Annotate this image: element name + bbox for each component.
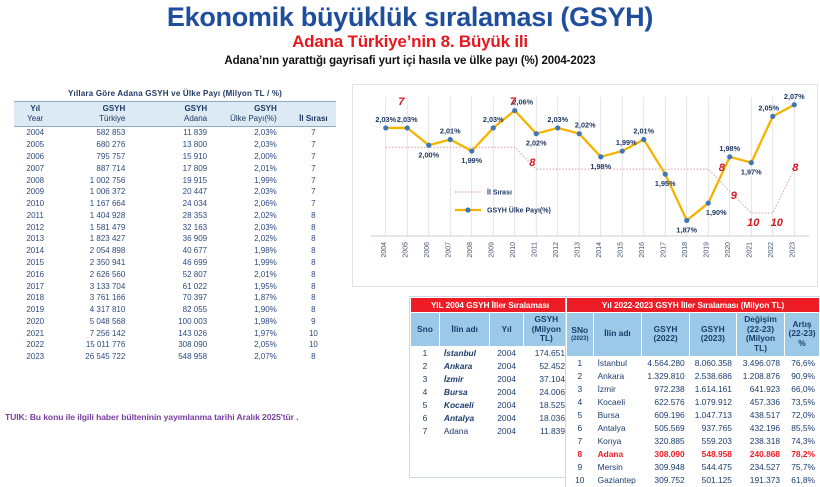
table-cell: 1 [411, 346, 440, 359]
table-cell: 2006 [14, 151, 56, 163]
table-cell: 3 133 704 [56, 280, 147, 292]
svg-text:İl Sırası: İl Sırası [487, 189, 512, 197]
table-cell: 8 [291, 233, 336, 245]
table-cell: İstanbul [439, 346, 490, 359]
svg-text:2023: 2023 [789, 242, 796, 258]
table-cell: 2.538.686 [689, 369, 736, 382]
table-cell: 7 [291, 151, 336, 163]
table-cell: Bursa [439, 385, 490, 398]
col-header-gsyh: GSYH (Milyon TL) [523, 313, 569, 347]
table-cell: İzmir [439, 372, 490, 385]
table-cell [490, 463, 523, 476]
chart-svg: 2,03%2,03%2,00%2,01%1,99%2,03%2,06%2,02%… [353, 85, 819, 286]
table-cell: 32 163 [147, 221, 223, 233]
ranking-table-2022-2023-body: 1İstanbul4.564.2808.060.3583.496.07876,6… [567, 356, 820, 486]
table-cell: 17 809 [147, 162, 223, 174]
table-cell: 4 317 810 [56, 304, 147, 316]
table-cell: 3.496.078 [736, 356, 784, 369]
svg-text:2,03%: 2,03% [375, 115, 396, 124]
page-subtitle: Adana Türkiye’nin 8. Büyük ili [0, 32, 820, 52]
table-header-row: Yıl Year GSYH Türkiye GSYH Adana GSYH Ül… [14, 102, 336, 127]
svg-text:1,97%: 1,97% [741, 168, 762, 177]
left-table-caption: Yıllara Göre Adana GSYH ve Ülke Payı (Mi… [14, 89, 336, 101]
table-cell: 1 581 479 [56, 221, 147, 233]
table-cell: 2004 [490, 411, 523, 424]
table-cell: 10 [291, 327, 336, 339]
table-cell: 2021 [14, 327, 56, 339]
table-cell: Kocaeli [593, 395, 642, 408]
table-cell: 8 [291, 304, 336, 316]
table-row: 3İzmir200437.104 [411, 372, 570, 385]
svg-text:2007: 2007 [445, 242, 452, 258]
table-cell: Kocaeli [439, 398, 490, 411]
col-header-gsyh-ulke-payi: GSYH Ülke Payı(%) [223, 102, 291, 127]
svg-text:8: 8 [792, 162, 799, 174]
table-cell: 1,87% [223, 292, 291, 304]
page-title: Ekonomik büyüklük sıralaması (GSYH) [0, 2, 820, 33]
svg-text:2,07%: 2,07% [784, 92, 805, 101]
table-cell: 238.318 [736, 434, 784, 447]
table-cell: 2004 [490, 385, 523, 398]
table-cell: 18.036 [523, 411, 569, 424]
table-cell: 5 048 568 [56, 316, 147, 328]
table-cell: 887 714 [56, 162, 147, 174]
svg-text:2017: 2017 [660, 242, 667, 258]
table-cell: 70 397 [147, 292, 223, 304]
col-header-gsyh-adana: GSYH Adana [147, 102, 223, 127]
table-row: 2Ankara1.329.8102.538.6861.208.87690,9% [567, 369, 820, 382]
table-cell: 2020 [14, 316, 56, 328]
svg-text:2,05%: 2,05% [758, 103, 779, 112]
table-row: 6Antalya505.569937.765432.19685,5% [567, 421, 820, 434]
svg-text:2,03%: 2,03% [483, 115, 504, 124]
table-cell: 52 807 [147, 268, 223, 280]
table-cell: 1,95% [223, 280, 291, 292]
table-cell: Ankara [593, 369, 642, 382]
table-cell: 609.196 [642, 408, 689, 421]
svg-text:2011: 2011 [531, 242, 538, 257]
table-cell: 8 [291, 351, 336, 363]
table-cell: 1,97% [223, 327, 291, 339]
table-row: 20111 404 92828 3532,02%8 [14, 209, 336, 221]
table-cell: 1.079.912 [689, 395, 736, 408]
col-header-sno: Sno [411, 313, 440, 347]
table-row: 2006795 75715 9102,00%7 [14, 151, 336, 163]
table-cell: 2005 [14, 139, 56, 151]
table-cell: 4 [567, 395, 594, 408]
table-cell: 2009 [14, 186, 56, 198]
gsyh-share-line-chart: 2,03%2,03%2,00%2,01%1,99%2,03%2,06%2,02%… [352, 84, 818, 287]
table-cell: Konya [593, 434, 642, 447]
svg-text:8: 8 [719, 162, 726, 174]
table-cell: 4 [411, 385, 440, 398]
table-cell: 24 034 [147, 198, 223, 210]
table-row: 9Mersin309.948544.475234.52775,7% [567, 460, 820, 473]
table-cell: 10 [567, 473, 594, 486]
table-cell: 234.527 [736, 460, 784, 473]
ranking-table-2004: YIL 2004 GSYH İller Sıralaması Sno İlin … [410, 297, 570, 477]
table-cell: 8 [291, 245, 336, 257]
svg-text:2005: 2005 [402, 242, 409, 258]
table-cell: 2011 [14, 209, 56, 221]
table-cell [523, 437, 569, 450]
table-cell: 8 [291, 268, 336, 280]
table-cell: 13 800 [147, 139, 223, 151]
svg-text:7: 7 [510, 96, 517, 108]
svg-text:2,02%: 2,02% [575, 121, 596, 130]
table-row: 20183 761 16670 3971,87%8 [14, 292, 336, 304]
table-cell: 7 [291, 186, 336, 198]
table-cell: 24.006 [523, 385, 569, 398]
table-cell: 7 [411, 424, 440, 437]
table-cell: 2008 [14, 174, 56, 186]
table-cell: 2004 [490, 424, 523, 437]
table-cell: 6 [567, 421, 594, 434]
table-cell: 7 [291, 198, 336, 210]
table-cell: 8 [291, 209, 336, 221]
table-row: 7Konya320.885559.203238.31874,3% [567, 434, 820, 447]
table-cell: 3 761 166 [56, 292, 147, 304]
table-cell: 5 [411, 398, 440, 411]
table-cell: 7 [291, 162, 336, 174]
table-cell: 309.948 [642, 460, 689, 473]
table-row: 2Ankara200452.452 [411, 359, 570, 372]
table-cell: 2,02% [223, 233, 291, 245]
table-cell [490, 437, 523, 450]
table-cell: 85,5% [785, 421, 820, 434]
table-cell: 46 699 [147, 257, 223, 269]
table-cell: 2019 [14, 304, 56, 316]
table-cell [523, 450, 569, 463]
table-cell: 505.569 [642, 421, 689, 434]
table-cell: 2,05% [223, 339, 291, 351]
table-row: 20121 581 47932 1632,03%8 [14, 221, 336, 233]
table-row-empty [411, 463, 570, 476]
table-row-empty [411, 450, 570, 463]
table-cell: 1,90% [223, 304, 291, 316]
table-cell: 1.208.876 [736, 369, 784, 382]
table-cell: 2007 [14, 162, 56, 174]
table-row: 1İstanbul4.564.2808.060.3583.496.07876,6… [567, 356, 820, 369]
svg-text:2016: 2016 [639, 242, 646, 258]
table-cell: 52.452 [523, 359, 569, 372]
table-cell: 2018 [14, 292, 56, 304]
table-cell: 174.651 [523, 346, 569, 359]
table-cell: 2010 [14, 198, 56, 210]
table-cell: 74,3% [785, 434, 820, 447]
table-cell: 2 [411, 359, 440, 372]
ranking-table-2022-2023: Yıl 2022-2023 GSYH İller Sıralaması (Mil… [566, 297, 820, 487]
svg-text:1,98%: 1,98% [590, 162, 611, 171]
svg-text:2014: 2014 [596, 242, 603, 258]
table-cell: 240.868 [736, 447, 784, 460]
table-cell: 432.196 [736, 421, 784, 434]
table-cell: 75,7% [785, 460, 820, 473]
table-cell: Ankara [439, 359, 490, 372]
table-cell: 544.475 [689, 460, 736, 473]
table-cell: 2012 [14, 221, 56, 233]
svg-text:2018: 2018 [682, 242, 689, 258]
table-cell: 1 823 427 [56, 233, 147, 245]
col-header-gsyh-2022: GSYH (2022) [642, 313, 689, 357]
tuik-footnote: TUIK: Bu konu ile ilgili haber bültenini… [5, 412, 405, 422]
table-cell: 78,2% [785, 447, 820, 460]
table-cell: 8 [291, 292, 336, 304]
table-cell: 2,06% [223, 198, 291, 210]
table-cell: 548.958 [689, 447, 736, 460]
table-cell: Adana [593, 447, 642, 460]
table-banner-row: Yıl 2022-2023 GSYH İller Sıralaması (Mil… [567, 298, 820, 313]
table-cell: 2015 [14, 257, 56, 269]
table-cell: 501.125 [689, 473, 736, 486]
table-cell: 622.576 [642, 395, 689, 408]
table-cell: 2013 [14, 233, 56, 245]
svg-text:10: 10 [747, 217, 760, 229]
svg-text:2019: 2019 [703, 242, 710, 258]
table-cell: Gaziantep [593, 473, 642, 486]
svg-text:2020: 2020 [725, 242, 732, 258]
table-cell: 72,0% [785, 408, 820, 421]
table-header-row: SNo (2023) İlin adı GSYH (2022) GSYH (20… [567, 313, 820, 357]
table-cell [490, 450, 523, 463]
table-cell: 7 [567, 434, 594, 447]
table-row: 20081 002 75619 9151,99%7 [14, 174, 336, 186]
col-header-il-adi: İlin adı [593, 313, 642, 357]
table-cell: Bursa [593, 408, 642, 421]
table-row: 3İzmir972.2381.614.161641.92366,0% [567, 382, 820, 395]
table-cell: 8 [567, 447, 594, 460]
svg-text:2010: 2010 [510, 242, 517, 258]
table-cell: 972.238 [642, 382, 689, 395]
table-cell: 2 [567, 369, 594, 382]
table-cell: 2,03% [223, 221, 291, 233]
table-cell: 11.839 [523, 424, 569, 437]
table-cell: 2 350 941 [56, 257, 147, 269]
col-header-il-adi: İlin adı [439, 313, 490, 347]
table-cell: 9 [567, 460, 594, 473]
table-cell: 61,8% [785, 473, 820, 486]
col-header-yil: Yıl [490, 313, 523, 347]
table-row: 202215 011 776308 0902,05%10 [14, 339, 336, 351]
svg-text:2,03%: 2,03% [397, 115, 418, 124]
svg-text:GSYH Ülke Payı(%): GSYH Ülke Payı(%) [487, 206, 551, 215]
svg-text:9: 9 [731, 190, 738, 202]
table-cell: 1,98% [223, 245, 291, 257]
table-cell: 2,00% [223, 151, 291, 163]
table-cell [439, 450, 490, 463]
table-cell [411, 463, 440, 476]
table-cell: 8 [291, 257, 336, 269]
table-cell: 308 090 [147, 339, 223, 351]
table-cell: 2004 [490, 346, 523, 359]
table-cell: 10 [291, 339, 336, 351]
table-cell: 1 404 928 [56, 209, 147, 221]
table-cell: 2017 [14, 280, 56, 292]
table-row: 7Adana200411.839 [411, 424, 570, 437]
table-cell: 2023 [14, 351, 56, 363]
yearly-gsyh-table-body: 2004582 85311 8392,03%72005680 27613 800… [14, 127, 336, 363]
table-cell: 2 054 898 [56, 245, 147, 257]
table-row: 4Bursa200424.006 [411, 385, 570, 398]
table-cell: 1 [567, 356, 594, 369]
table-cell [439, 437, 490, 450]
table-cell: 1,99% [223, 257, 291, 269]
table-cell: 2,02% [223, 209, 291, 221]
svg-text:1,87%: 1,87% [676, 225, 697, 234]
table-cell: 309.752 [642, 473, 689, 486]
table-cell: 2,03% [223, 139, 291, 151]
table-row: 5Bursa609.1961.047.713438.51772,0% [567, 408, 820, 421]
table-cell: 2,07% [223, 351, 291, 363]
svg-text:2,03%: 2,03% [547, 115, 568, 124]
table-cell: 100 003 [147, 316, 223, 328]
svg-text:2015: 2015 [617, 242, 624, 258]
table-cell: 582 853 [56, 127, 147, 139]
svg-text:1,98%: 1,98% [719, 144, 740, 153]
table-cell: 18.525 [523, 398, 569, 411]
table-cell: 308.090 [642, 447, 689, 460]
table-banner-row: YIL 2004 GSYH İller Sıralaması [411, 298, 570, 313]
col-header-il-sirasi: İl Sırası [291, 102, 336, 127]
table-cell [439, 463, 490, 476]
svg-text:2,00%: 2,00% [418, 150, 439, 159]
table-row: 20152 350 94146 6991,99%8 [14, 257, 336, 269]
table-cell: Antalya [593, 421, 642, 434]
table-cell: 3 [411, 372, 440, 385]
table-row: 20101 167 66424 0342,06%7 [14, 198, 336, 210]
table-cell: 61 022 [147, 280, 223, 292]
table-row: 20142 054 89840 6771,98%8 [14, 245, 336, 257]
svg-text:1,99%: 1,99% [461, 156, 482, 165]
col-header-sno: SNo (2023) [567, 313, 594, 357]
table-row: 4Kocaeli622.5761.079.912457.33673,5% [567, 395, 820, 408]
table-cell: 11 839 [147, 127, 223, 139]
table-row: 5Kocaeli200418.525 [411, 398, 570, 411]
table-cell: 795 757 [56, 151, 147, 163]
table-cell: 1,99% [223, 174, 291, 186]
table-cell: 7 [291, 127, 336, 139]
table-cell: 19 915 [147, 174, 223, 186]
table-cell: 5 [567, 408, 594, 421]
table-cell: 8 [291, 221, 336, 233]
table-cell: 1.047.713 [689, 408, 736, 421]
table-cell: 28 353 [147, 209, 223, 221]
table-cell: 143 026 [147, 327, 223, 339]
table-cell [523, 463, 569, 476]
table-cell: 2,01% [223, 268, 291, 280]
svg-text:2,02%: 2,02% [526, 139, 547, 148]
svg-text:8: 8 [529, 157, 536, 169]
table-cell [411, 450, 440, 463]
table-cell: 15 910 [147, 151, 223, 163]
yearly-gsyh-table: Yıl Year GSYH Türkiye GSYH Adana GSYH Ül… [14, 101, 336, 363]
banner-2004: YIL 2004 GSYH İller Sıralaması [411, 298, 570, 313]
yearly-gsyh-table-panel: Yıllara Göre Adana GSYH ve Ülke Payı (Mi… [14, 89, 336, 363]
svg-text:1,95%: 1,95% [655, 179, 676, 188]
svg-text:2013: 2013 [574, 242, 581, 258]
svg-text:7: 7 [398, 96, 405, 108]
table-cell: 2,01% [223, 162, 291, 174]
table-cell: 76,6% [785, 356, 820, 369]
table-row: 20162 626 56052 8072,01%8 [14, 268, 336, 280]
table-cell: 9 [291, 316, 336, 328]
col-header-artis: Artış (22-23) % [785, 313, 820, 357]
table-cell: 1.329.810 [642, 369, 689, 382]
table-row-empty [411, 437, 570, 450]
table-row: 1İstanbul2004174.651 [411, 346, 570, 359]
page-description: Adana’nın yarattığı gayrisafi yurt içi h… [0, 55, 820, 67]
table-cell: 8.060.358 [689, 356, 736, 369]
svg-text:2006: 2006 [424, 242, 431, 258]
svg-text:2021: 2021 [746, 242, 753, 258]
table-cell: 2004 [490, 372, 523, 385]
table-cell: 36 909 [147, 233, 223, 245]
table-cell: 320.885 [642, 434, 689, 447]
table-row: 20173 133 70461 0221,95%8 [14, 280, 336, 292]
table-row: 20131 823 42736 9092,02%8 [14, 233, 336, 245]
table-cell: 7 [291, 174, 336, 186]
table-cell: 66,0% [785, 382, 820, 395]
table-cell: 6 [411, 411, 440, 424]
svg-text:2,01%: 2,01% [440, 126, 461, 135]
svg-text:1,99%: 1,99% [616, 138, 637, 147]
col-header-year: Yıl Year [14, 102, 56, 127]
table-cell: 2004 [490, 398, 523, 411]
table-cell: 2014 [14, 245, 56, 257]
svg-text:2009: 2009 [488, 242, 495, 258]
table-cell: 15 011 776 [56, 339, 147, 351]
table-cell: 548 958 [147, 351, 223, 363]
table-row: 6Antalya200418.036 [411, 411, 570, 424]
svg-text:2012: 2012 [553, 242, 560, 258]
table-cell: 1.614.161 [689, 382, 736, 395]
table-cell: 4.564.280 [642, 356, 689, 369]
table-cell: 3 [567, 382, 594, 395]
table-cell: İzmir [593, 382, 642, 395]
table-row: 2007887 71417 8092,01%7 [14, 162, 336, 174]
table-row: 10Gaziantep309.752501.125191.37361,8% [567, 473, 820, 486]
table-cell: 2 626 560 [56, 268, 147, 280]
table-cell: 2022 [14, 339, 56, 351]
table-cell: 2004 [490, 359, 523, 372]
svg-text:2004: 2004 [381, 242, 388, 258]
table-row: 202326 545 722548 9582,07%8 [14, 351, 336, 363]
table-cell: 191.373 [736, 473, 784, 486]
table-cell: 2,03% [223, 127, 291, 139]
svg-text:2,01%: 2,01% [633, 126, 654, 135]
col-header-gsyh-2023: GSYH (2023) [689, 313, 736, 357]
table-row: 20205 048 568100 0031,98%9 [14, 316, 336, 328]
table-cell: Mersin [593, 460, 642, 473]
col-header-degisim: Değişim (22-23) (Milyon TL) [736, 313, 784, 357]
table-cell: 26 545 722 [56, 351, 147, 363]
table-cell: 90,9% [785, 369, 820, 382]
table-row: 20091 006 37220 4472,03%7 [14, 186, 336, 198]
table-row: 20217 256 142143 0261,97%10 [14, 327, 336, 339]
svg-text:1,90%: 1,90% [706, 208, 727, 217]
table-cell: 457.336 [736, 395, 784, 408]
table-cell: Adana [439, 424, 490, 437]
table-cell: 2,03% [223, 186, 291, 198]
table-cell: 438.517 [736, 408, 784, 421]
table-cell: 7 [291, 139, 336, 151]
table-cell: 7 256 142 [56, 327, 147, 339]
table-cell: 82 055 [147, 304, 223, 316]
table-cell [411, 437, 440, 450]
banner-2223: Yıl 2022-2023 GSYH İller Sıralaması (Mil… [567, 298, 820, 313]
table-row: 20194 317 81082 0551,90%8 [14, 304, 336, 316]
table-cell: 1 167 664 [56, 198, 147, 210]
